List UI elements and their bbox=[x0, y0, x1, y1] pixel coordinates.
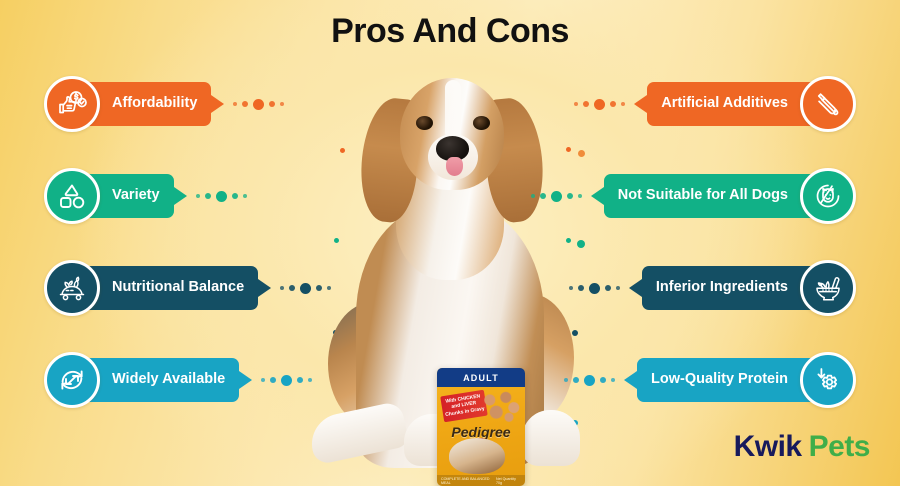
con-label-plate: Artificial Additives bbox=[647, 82, 816, 126]
balanced-plate-icon bbox=[44, 260, 100, 316]
dog-paw-right bbox=[522, 410, 580, 466]
shapes-icon bbox=[44, 168, 100, 224]
mortar-pestle-icon bbox=[800, 260, 856, 316]
connector-dots bbox=[280, 283, 331, 294]
pro-row-nutritional-balance[interactable]: Nutritional Balance bbox=[44, 260, 331, 316]
pro-label-plate: Nutritional Balance bbox=[84, 266, 258, 310]
pouch-food-chunks-image bbox=[481, 391, 521, 423]
pro-row-widely-available[interactable]: Widely Available bbox=[44, 352, 312, 408]
connector-dots bbox=[196, 191, 247, 202]
pro-label-plate: Widely Available bbox=[84, 358, 239, 402]
pouch-footer-right: Net Quantity 70g bbox=[496, 477, 521, 485]
page-title: Pros And Cons bbox=[0, 12, 900, 51]
pro-row-affordability[interactable]: Affordability bbox=[44, 76, 284, 132]
logo-pets-text: Pets bbox=[809, 430, 870, 463]
brand-logo[interactable]: KwikPets bbox=[734, 430, 870, 464]
pro-label-text: Nutritional Balance bbox=[112, 280, 244, 296]
pro-label-text: Widely Available bbox=[112, 372, 225, 388]
pedigree-product-pouch: ADULT With CHICKEN and LIVER Chunks in G… bbox=[437, 368, 525, 486]
connector-dots bbox=[233, 99, 284, 110]
con-label-text: Not Suitable for All Dogs bbox=[618, 188, 788, 204]
dog-blaze bbox=[445, 80, 461, 140]
pro-row-variety[interactable]: Variety bbox=[44, 168, 247, 224]
con-row-artificial-additives[interactable]: Artificial Additives bbox=[574, 76, 856, 132]
con-label-text: Artificial Additives bbox=[661, 96, 788, 112]
pro-label-text: Affordability bbox=[112, 96, 197, 112]
con-label-plate: Inferior Ingredients bbox=[642, 266, 816, 310]
dog-face-prohibited-icon bbox=[800, 168, 856, 224]
circular-arrows-expand-icon bbox=[44, 352, 100, 408]
pouch-footer: COMPLETE AND BALANCED MEAL Net Quantity … bbox=[437, 475, 525, 486]
con-label-plate: Low-Quality Protein bbox=[637, 358, 816, 402]
logo-kwik-text: Kwik bbox=[734, 430, 802, 463]
pro-label-plate: Affordability bbox=[84, 82, 211, 126]
con-row-inferior-ingredients[interactable]: Inferior Ingredients bbox=[569, 260, 856, 316]
connector-dots bbox=[531, 191, 582, 202]
infographic-canvas: Pros And Cons ADULT With CHICKEN and LIV… bbox=[0, 0, 900, 486]
connector-dots bbox=[574, 99, 625, 110]
con-row-low-quality-protein[interactable]: Low-Quality Protein bbox=[564, 352, 856, 408]
dog-eye-left bbox=[416, 116, 433, 130]
connector-dots bbox=[564, 375, 615, 386]
pouch-footer-left: COMPLETE AND BALANCED MEAL bbox=[441, 477, 496, 485]
con-label-plate: Not Suitable for All Dogs bbox=[604, 174, 816, 218]
con-label-text: Low-Quality Protein bbox=[651, 372, 788, 388]
pro-label-text: Variety bbox=[112, 188, 160, 204]
dropper-icon bbox=[800, 76, 856, 132]
connector-dots bbox=[261, 375, 312, 386]
con-label-text: Inferior Ingredients bbox=[656, 280, 788, 296]
dog-tongue bbox=[446, 157, 463, 176]
con-row-not-suitable-all-dogs[interactable]: Not Suitable for All Dogs bbox=[531, 168, 856, 224]
pouch-dog-image bbox=[449, 438, 505, 474]
gear-down-arrow-icon bbox=[800, 352, 856, 408]
pouch-adult-banner: ADULT bbox=[437, 368, 525, 387]
connector-dots bbox=[569, 283, 620, 294]
dog-eye-right bbox=[473, 116, 490, 130]
thumbs-up-dollar-check-icon bbox=[44, 76, 100, 132]
